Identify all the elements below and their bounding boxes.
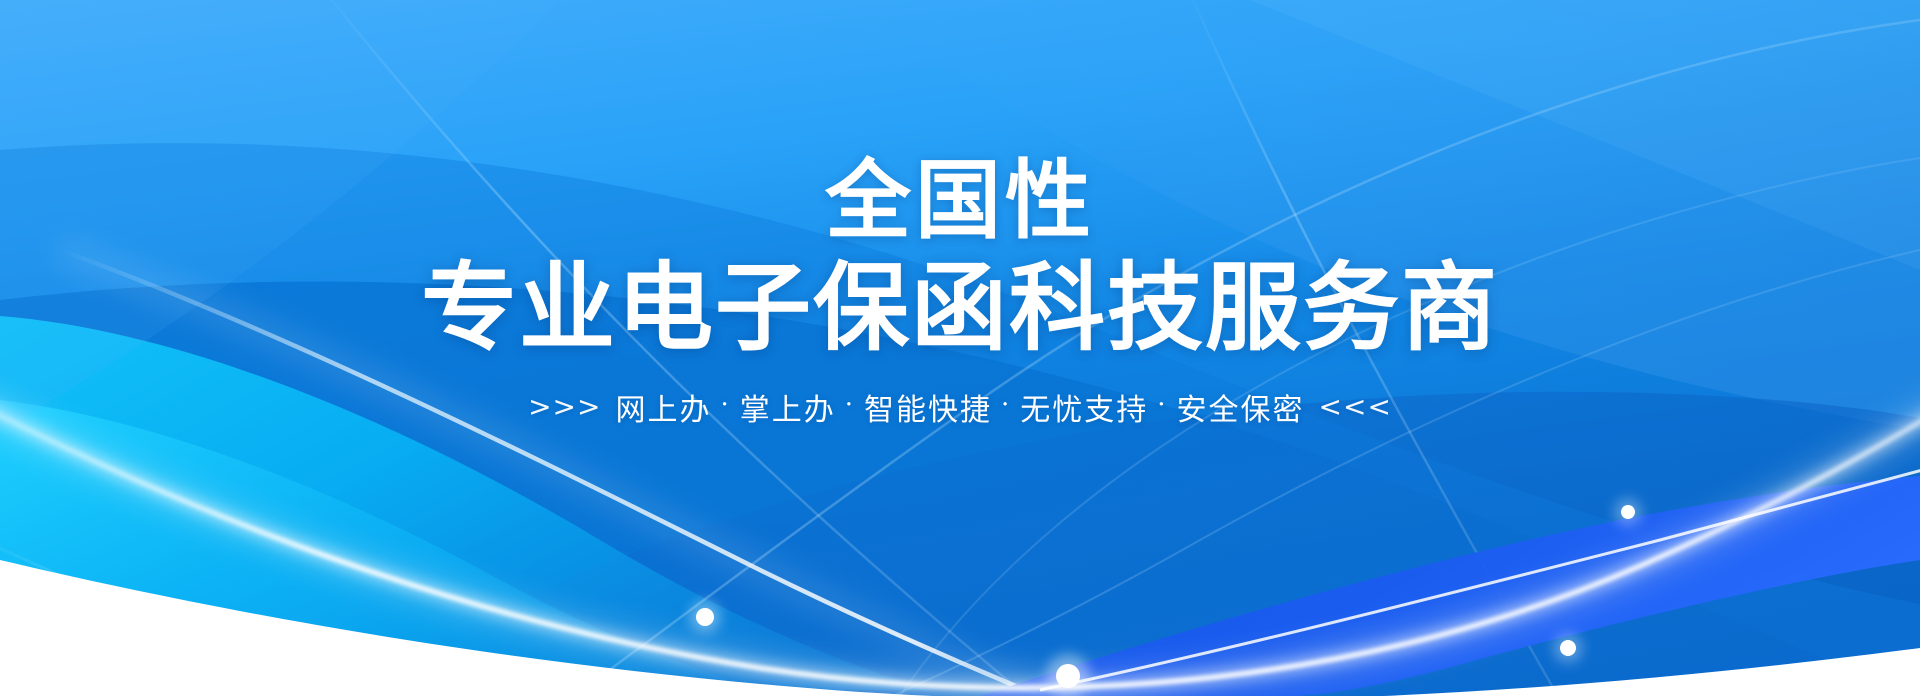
wave-dot — [696, 608, 714, 626]
banner-background-art — [0, 0, 1920, 696]
wave-dot — [1560, 640, 1576, 656]
wave-dot — [1621, 505, 1635, 519]
hero-banner: 全国性 专业电子保函科技服务商 >>> 网上办·掌上办·智能快捷·无忧支持·安全… — [0, 0, 1920, 696]
